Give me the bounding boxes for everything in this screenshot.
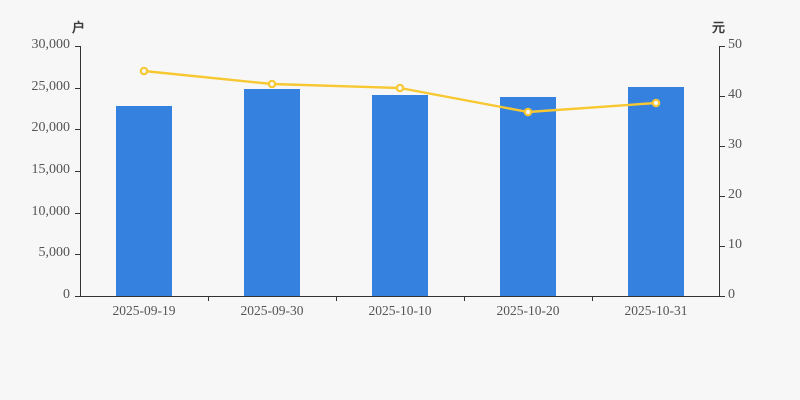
line-marker[interactable] xyxy=(397,85,403,91)
chart-container: 户 元 05,00010,00015,00020,00025,00030,000… xyxy=(0,0,800,400)
line-marker[interactable] xyxy=(269,81,275,87)
line-marker[interactable] xyxy=(653,100,659,106)
line-marker[interactable] xyxy=(141,68,147,74)
line-series-layer xyxy=(0,0,800,400)
line-marker[interactable] xyxy=(525,109,531,115)
